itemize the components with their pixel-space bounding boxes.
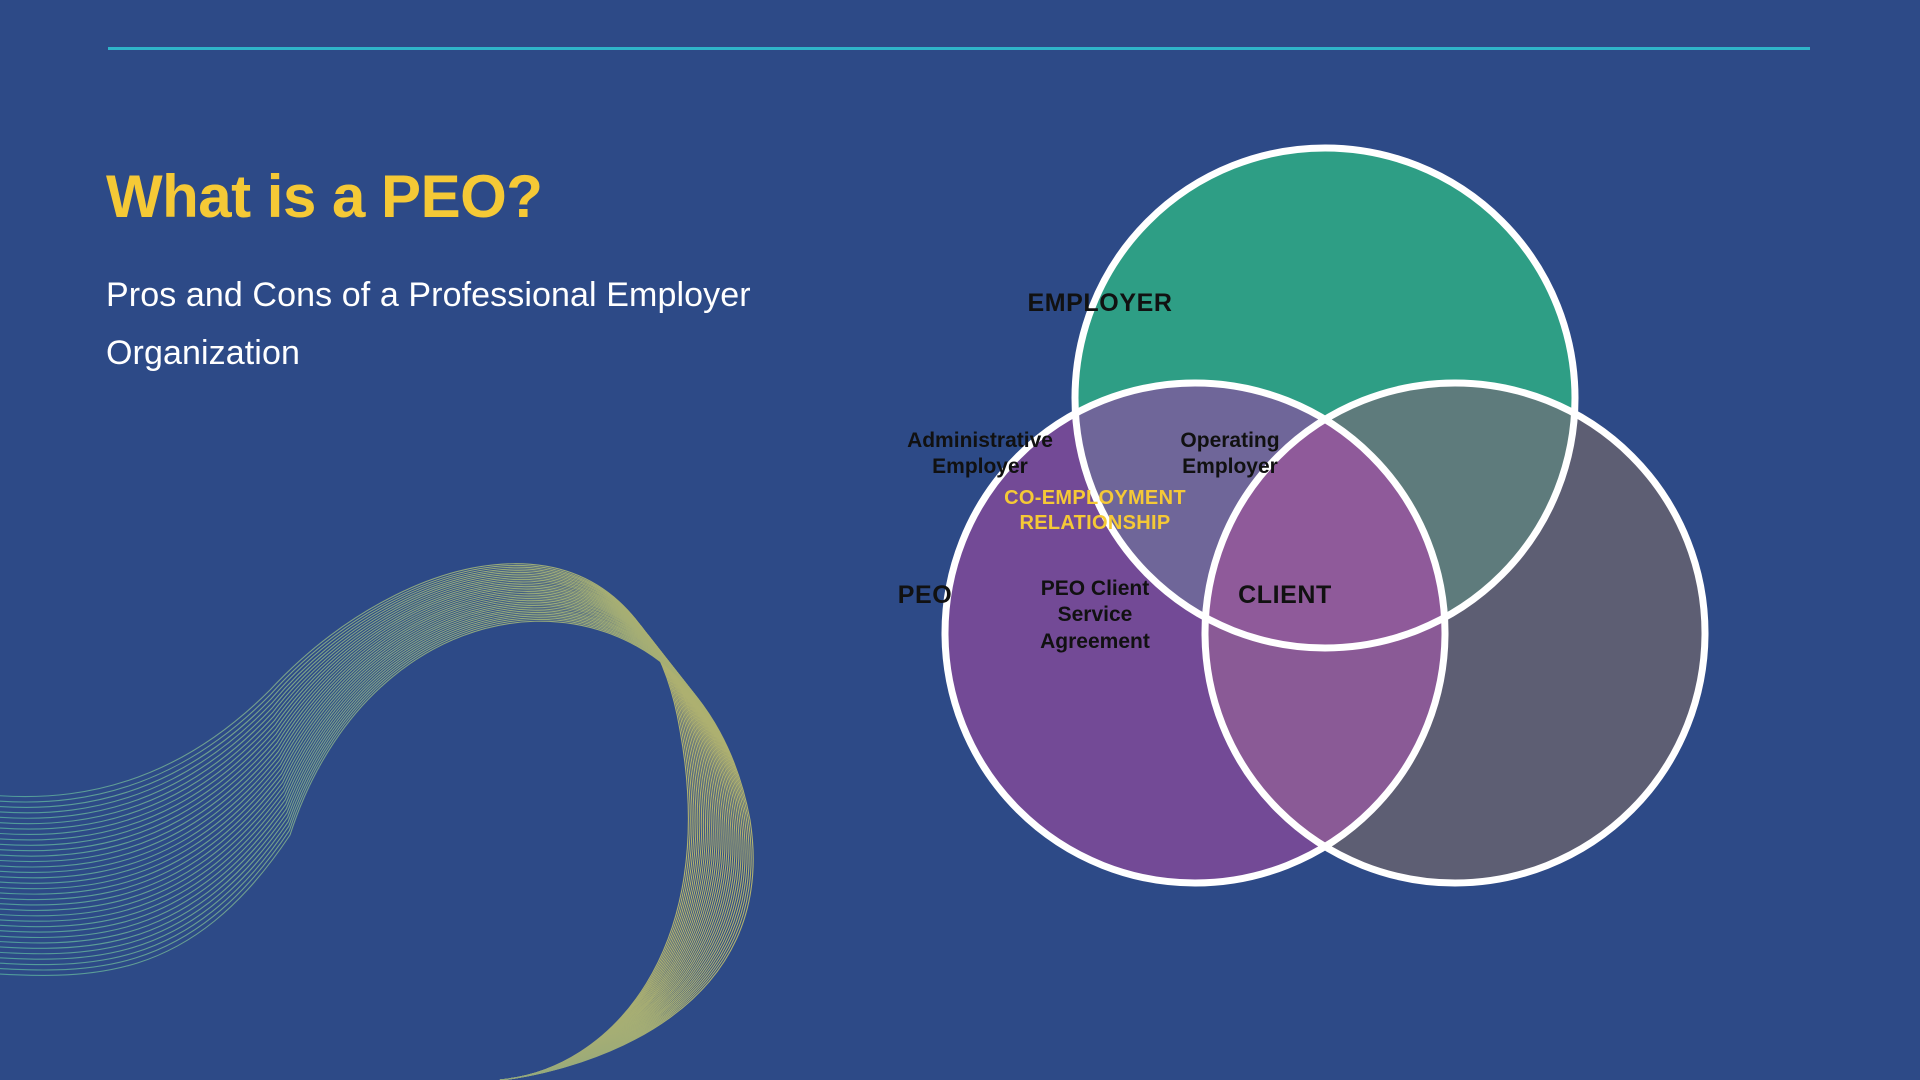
title-block: What is a PEO? Pros and Cons of a Profes… bbox=[106, 165, 866, 383]
page-title: What is a PEO? bbox=[106, 165, 866, 228]
venn-diagram: EMPLOYER PEO CLIENT Administrative Emplo… bbox=[820, 88, 1830, 1038]
top-accent-rule bbox=[108, 47, 1810, 50]
page-subtitle: Pros and Cons of a Professional Employer… bbox=[106, 266, 866, 383]
decorative-wave-art bbox=[0, 520, 760, 1080]
